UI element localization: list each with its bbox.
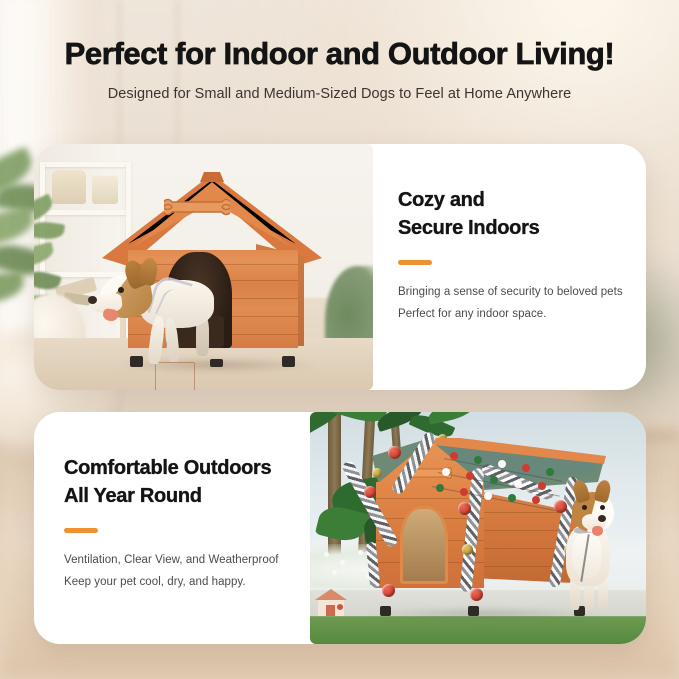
outdoor-product-photo xyxy=(310,412,646,644)
page-subheadline: Designed for Small and Medium-Sized Dogs… xyxy=(0,86,679,102)
bauble xyxy=(470,588,483,601)
clear-view-window xyxy=(400,506,448,584)
indoor-body-line2: Perfect for any indoor space. xyxy=(398,303,638,325)
mini-decor-house xyxy=(314,588,348,618)
bauble xyxy=(462,544,473,555)
indoor-body-line1: Bringing a sense of security to beloved … xyxy=(398,281,638,303)
feature-block-outdoor: Comfortable Outdoors All Year Round Vent… xyxy=(34,412,646,644)
indoor-text-content: Cozy and Secure Indoors Bringing a sense… xyxy=(398,186,638,326)
bone-plaque-icon xyxy=(164,198,230,218)
outdoor-body-line2: Keep your pet cool, dry, and happy. xyxy=(64,571,322,593)
outdoor-text-content: Comfortable Outdoors All Year Round Vent… xyxy=(64,454,322,594)
outdoor-accent-bar xyxy=(64,528,98,533)
bauble xyxy=(372,468,382,478)
bauble xyxy=(364,486,376,498)
feature-block-indoor: Cozy and Secure Indoors Bringing a sense… xyxy=(34,144,646,390)
outdoor-title-line1: Comfortable Outdoors xyxy=(64,454,322,482)
outdoor-body-line1: Ventilation, Clear View, and Weatherproo… xyxy=(64,549,322,571)
bauble xyxy=(388,446,401,459)
indoor-title-line1: Cozy and xyxy=(398,186,638,214)
bauble xyxy=(458,502,471,515)
dog-outdoor xyxy=(556,488,632,610)
page-headline: Perfect for Indoor and Outdoor Living! xyxy=(0,36,679,72)
dog-indoor xyxy=(96,254,224,374)
header: Perfect for Indoor and Outdoor Living! D… xyxy=(0,36,679,102)
indoor-accent-bar xyxy=(398,260,432,265)
indoor-title-line2: Secure Indoors xyxy=(398,214,638,242)
indoor-product-photo xyxy=(34,144,373,390)
outdoor-title-line2: All Year Round xyxy=(64,482,322,510)
bauble xyxy=(382,584,395,597)
